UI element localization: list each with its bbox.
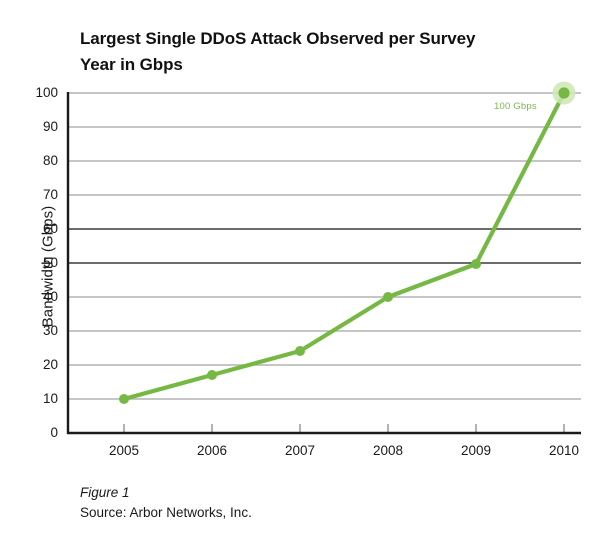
x-tick-label-2006: 2006 (177, 444, 247, 458)
y-tick-label-10: 10 (14, 392, 58, 406)
x-tick-label-2009: 2009 (441, 444, 511, 458)
y-tick-label-50: 50 (14, 256, 58, 270)
y-tick-label-70: 70 (14, 188, 58, 202)
figure-caption: Figure 1 Source: Arbor Networks, Inc. (80, 483, 480, 523)
x-tick-label-2007: 2007 (265, 444, 335, 458)
y-tick-label-80: 80 (14, 154, 58, 168)
y-tick-label-0: 0 (14, 426, 58, 440)
x-tick-label-2010: 2010 (529, 444, 599, 458)
y-tick-label-90: 90 (14, 120, 58, 134)
data-point-annotation-100-gbps: 100 Gbps (494, 101, 537, 112)
y-tick-label-30: 30 (14, 324, 58, 338)
line-chart-svg (0, 0, 610, 470)
chart-plot-area: Bandwidth (Gbps) (0, 0, 610, 470)
highlighted-data-point (558, 87, 569, 98)
y-tick-label-40: 40 (14, 290, 58, 304)
data-series-line (124, 93, 564, 399)
data-point-markers (119, 82, 576, 405)
y-tick-label-60: 60 (14, 222, 58, 236)
x-axis-ticks (124, 424, 564, 433)
x-tick-label-2008: 2008 (353, 444, 423, 458)
figure-number-label: Figure 1 (80, 483, 480, 503)
figure-source-label: Source: Arbor Networks, Inc. (80, 503, 480, 523)
figure-container: Largest Single DDoS Attack Observed per … (0, 0, 610, 547)
gridlines (68, 93, 581, 399)
x-tick-label-2005: 2005 (89, 444, 159, 458)
y-tick-label-100: 100 (14, 86, 58, 100)
y-tick-label-20: 20 (14, 358, 58, 372)
